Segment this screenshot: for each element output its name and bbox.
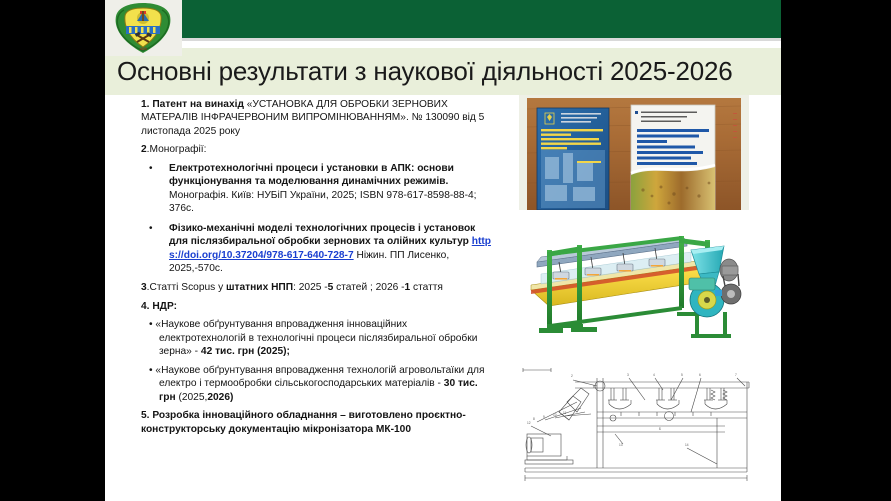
ndr-project-1: • «Наукове обґрунтування впровадження ін… (141, 318, 496, 358)
item-3-scopus: 3.Статті Scopus у штатних НПП: 2025 -5 с… (141, 281, 496, 294)
item-2-monographs: 2.Монографії: (141, 143, 496, 156)
slide-canvas: Основні результати з наукової діяльності… (105, 0, 781, 501)
item-5-equipment: 5. Розробка інноваційного обладнання – в… (141, 409, 496, 436)
item-3-c: : 2025 - (293, 282, 328, 293)
svg-text:Б: Б (659, 427, 661, 431)
bullet-icon: • (141, 162, 169, 216)
svg-text:4: 4 (653, 373, 655, 377)
item-3-e: статей ; 2026 - (333, 282, 404, 293)
svg-text:9: 9 (543, 415, 545, 419)
photo-two-monograph-books (519, 95, 749, 210)
ndr-2-year-2026: 2026) (207, 392, 233, 403)
svg-text:5: 5 (681, 373, 683, 377)
header-green-band (105, 0, 781, 38)
bullet-icon: • (141, 222, 169, 276)
svg-text:3: 3 (627, 373, 629, 377)
item-1-patent: 1. Патент на винахід «УСТАНОВКА ДЛЯ ОБРО… (141, 98, 496, 138)
item-3-g: стаття (410, 282, 443, 293)
svg-text:2: 2 (571, 374, 573, 378)
svg-text:8: 8 (533, 417, 535, 421)
screen: Основні результати з наукової діяльності… (0, 0, 891, 501)
monograph-1-details: Монографія. Київ: НУБіП України, 2025; I… (169, 190, 477, 214)
svg-text:6: 6 (699, 373, 701, 377)
svg-text:11: 11 (563, 411, 567, 415)
svg-text:10: 10 (553, 413, 557, 417)
item-2-label: .Монографії: (147, 144, 207, 155)
item-4-ndr-label: 4. НДР: (141, 300, 496, 313)
ndr-1-funding: 42 тис. грн (2025); (201, 346, 290, 357)
page-title: Основні результати з наукової діяльності… (105, 56, 733, 87)
item-3-staff: штатних НПП (226, 282, 293, 293)
svg-text:Б: Б (593, 385, 595, 389)
svg-text:13: 13 (619, 443, 623, 447)
svg-text:14: 14 (685, 443, 689, 447)
monograph-1-title: Електротехнологічні процеси і установки … (169, 163, 454, 187)
svg-text:7: 7 (735, 373, 737, 377)
monograph-2-title: Фізико-механічні моделі технологічних пр… (169, 223, 475, 247)
monograph-1-item: • Електротехнологічні процеси і установк… (141, 162, 496, 216)
svg-text:12: 12 (527, 421, 531, 425)
coat-of-arms-icon: 1895 (105, 0, 182, 56)
3d-render-grain-conveyor-micronizer (519, 228, 754, 348)
header-band-shadow (105, 38, 781, 41)
item-3-a: .Статті Scopus у (147, 282, 226, 293)
slide-body-text: 1. Патент на винахід «УСТАНОВКА ДЛЯ ОБРО… (141, 98, 496, 441)
monograph-2-item: • Фізико-механічні моделі технологічних … (141, 222, 496, 276)
ndr-2-years: (2025, (176, 392, 208, 403)
svg-text:1895: 1895 (139, 47, 147, 51)
ndr-project-2: • «Наукове обґрунтування впровадження те… (141, 364, 496, 404)
item-1-lead: . Патент на винахід (147, 99, 244, 110)
title-band: Основні результати з наукової діяльності… (105, 48, 781, 95)
engineering-assembly-drawing: 234 567 8910 111213 14ББ (511, 360, 761, 485)
ndr-2-text: «Наукове обґрунтування впровадження техн… (153, 365, 485, 389)
